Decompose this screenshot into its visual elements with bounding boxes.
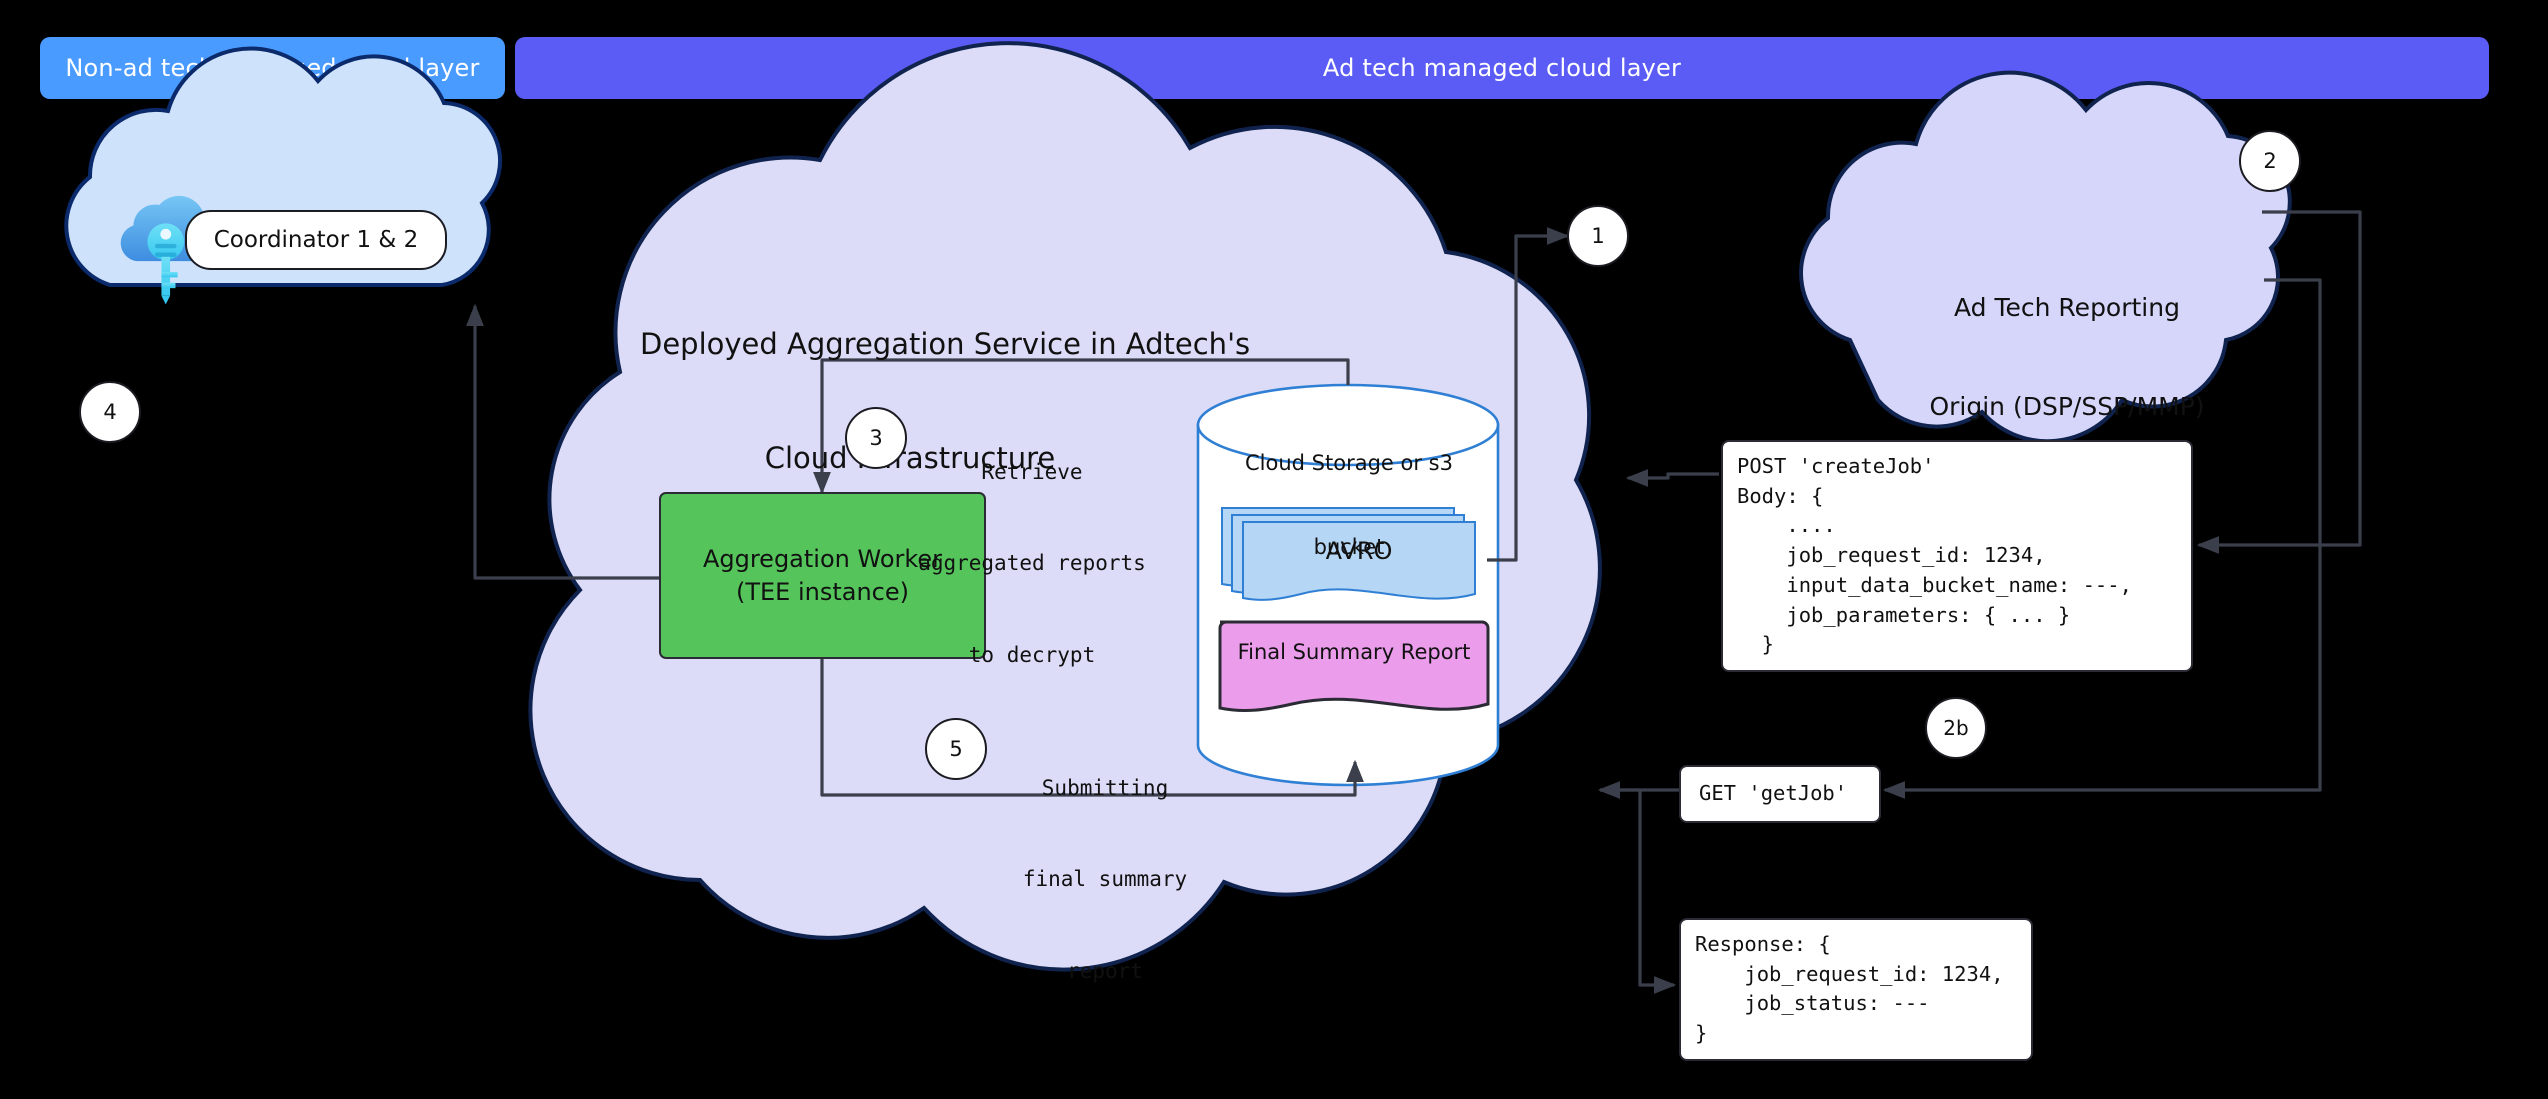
step-5-label-line2: final summary [1000, 864, 1210, 894]
final-summary-report-document [1220, 622, 1488, 711]
aggregation-service-title-line1: Deployed Aggregation Service in Adtech's [640, 325, 1180, 363]
step-5-label-line1: Submitting [1000, 773, 1210, 803]
step-5-badge: 5 [925, 718, 987, 780]
connector-getjob-to-response [1640, 790, 1674, 985]
reporting-origin-title-line2: Origin (DSP/SSP/MMP) [1857, 390, 2277, 423]
aggregation-worker-line1: Aggregation Worker [703, 543, 942, 575]
aggregation-worker-line2: (TEE instance) [736, 576, 909, 608]
step-2-badge: 2 [2239, 130, 2301, 192]
step-4-badge: 4 [79, 381, 141, 443]
step-3-label-line1: Retrieve [908, 457, 1156, 487]
step-5-label-line3: report [1000, 956, 1210, 986]
create-job-code-box: POST 'createJob' Body: { .... job_reques… [1721, 440, 2193, 672]
step-1-badge: 1 [1567, 205, 1629, 267]
step-3-label-line3: to decrypt [908, 640, 1156, 670]
reporting-origin-title-line1: Ad Tech Reporting [1857, 291, 2277, 324]
coordinator-pill-label: Coordinator 1 & 2 [214, 227, 419, 253]
response-code-box: Response: { job_request_id: 1234, job_st… [1679, 918, 2033, 1061]
connector-createjob-to-cloud [1628, 474, 1719, 478]
step-2b-badge: 2b [1925, 697, 1987, 759]
step-3-label-line2: aggregated reports [908, 548, 1156, 578]
avro-label: AVRO [1243, 537, 1475, 565]
reporting-origin-title: Ad Tech Reporting Origin (DSP/SSP/MMP) [1857, 225, 2277, 456]
step-5-label: Submitting final summary report [1000, 712, 1210, 1016]
coordinator-pill[interactable]: Coordinator 1 & 2 [185, 210, 447, 270]
cloud-storage-title-line1: Cloud Storage or s3 [1218, 450, 1480, 478]
final-summary-report-label: Final Summary Report [1220, 640, 1488, 664]
get-job-code-box: GET 'getJob' [1679, 765, 1881, 823]
step-3-label: Retrieve aggregated reports to decrypt [908, 396, 1156, 700]
step-3-badge: 3 [845, 407, 907, 469]
